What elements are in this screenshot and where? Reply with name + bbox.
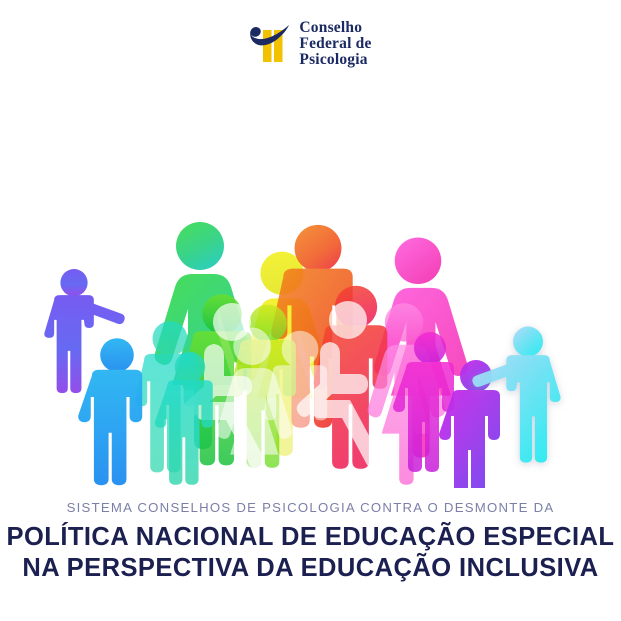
caption-headline-line-1: POLÍTICA NACIONAL DE EDUCAÇÃO ESPECIAL	[0, 522, 621, 553]
poster-root: Conselho Federal de Psicologia	[0, 0, 621, 621]
caption-kicker: SISTEMA CONSELHOS DE PSICOLOGIA CONTRA O…	[0, 500, 621, 515]
cfp-logo-wordmark: Conselho Federal de Psicologia	[299, 20, 371, 67]
cfp-psi-logo-icon	[249, 22, 291, 66]
poster-caption: SISTEMA CONSELHOS DE PSICOLOGIA CONTRA O…	[0, 500, 621, 584]
cfp-logo-line-1: Conselho	[299, 20, 371, 36]
cfp-logo-line-3: Psicologia	[299, 52, 371, 68]
crowd-of-people-illustration	[0, 88, 621, 488]
caption-headline-line-2: NA PERSPECTIVA DA EDUCAÇÃO INCLUSIVA	[0, 553, 621, 584]
cfp-logo-line-2: Federal de	[299, 36, 371, 52]
cfp-logo: Conselho Federal de Psicologia	[0, 16, 621, 72]
figure-child-blue-left	[78, 338, 142, 485]
